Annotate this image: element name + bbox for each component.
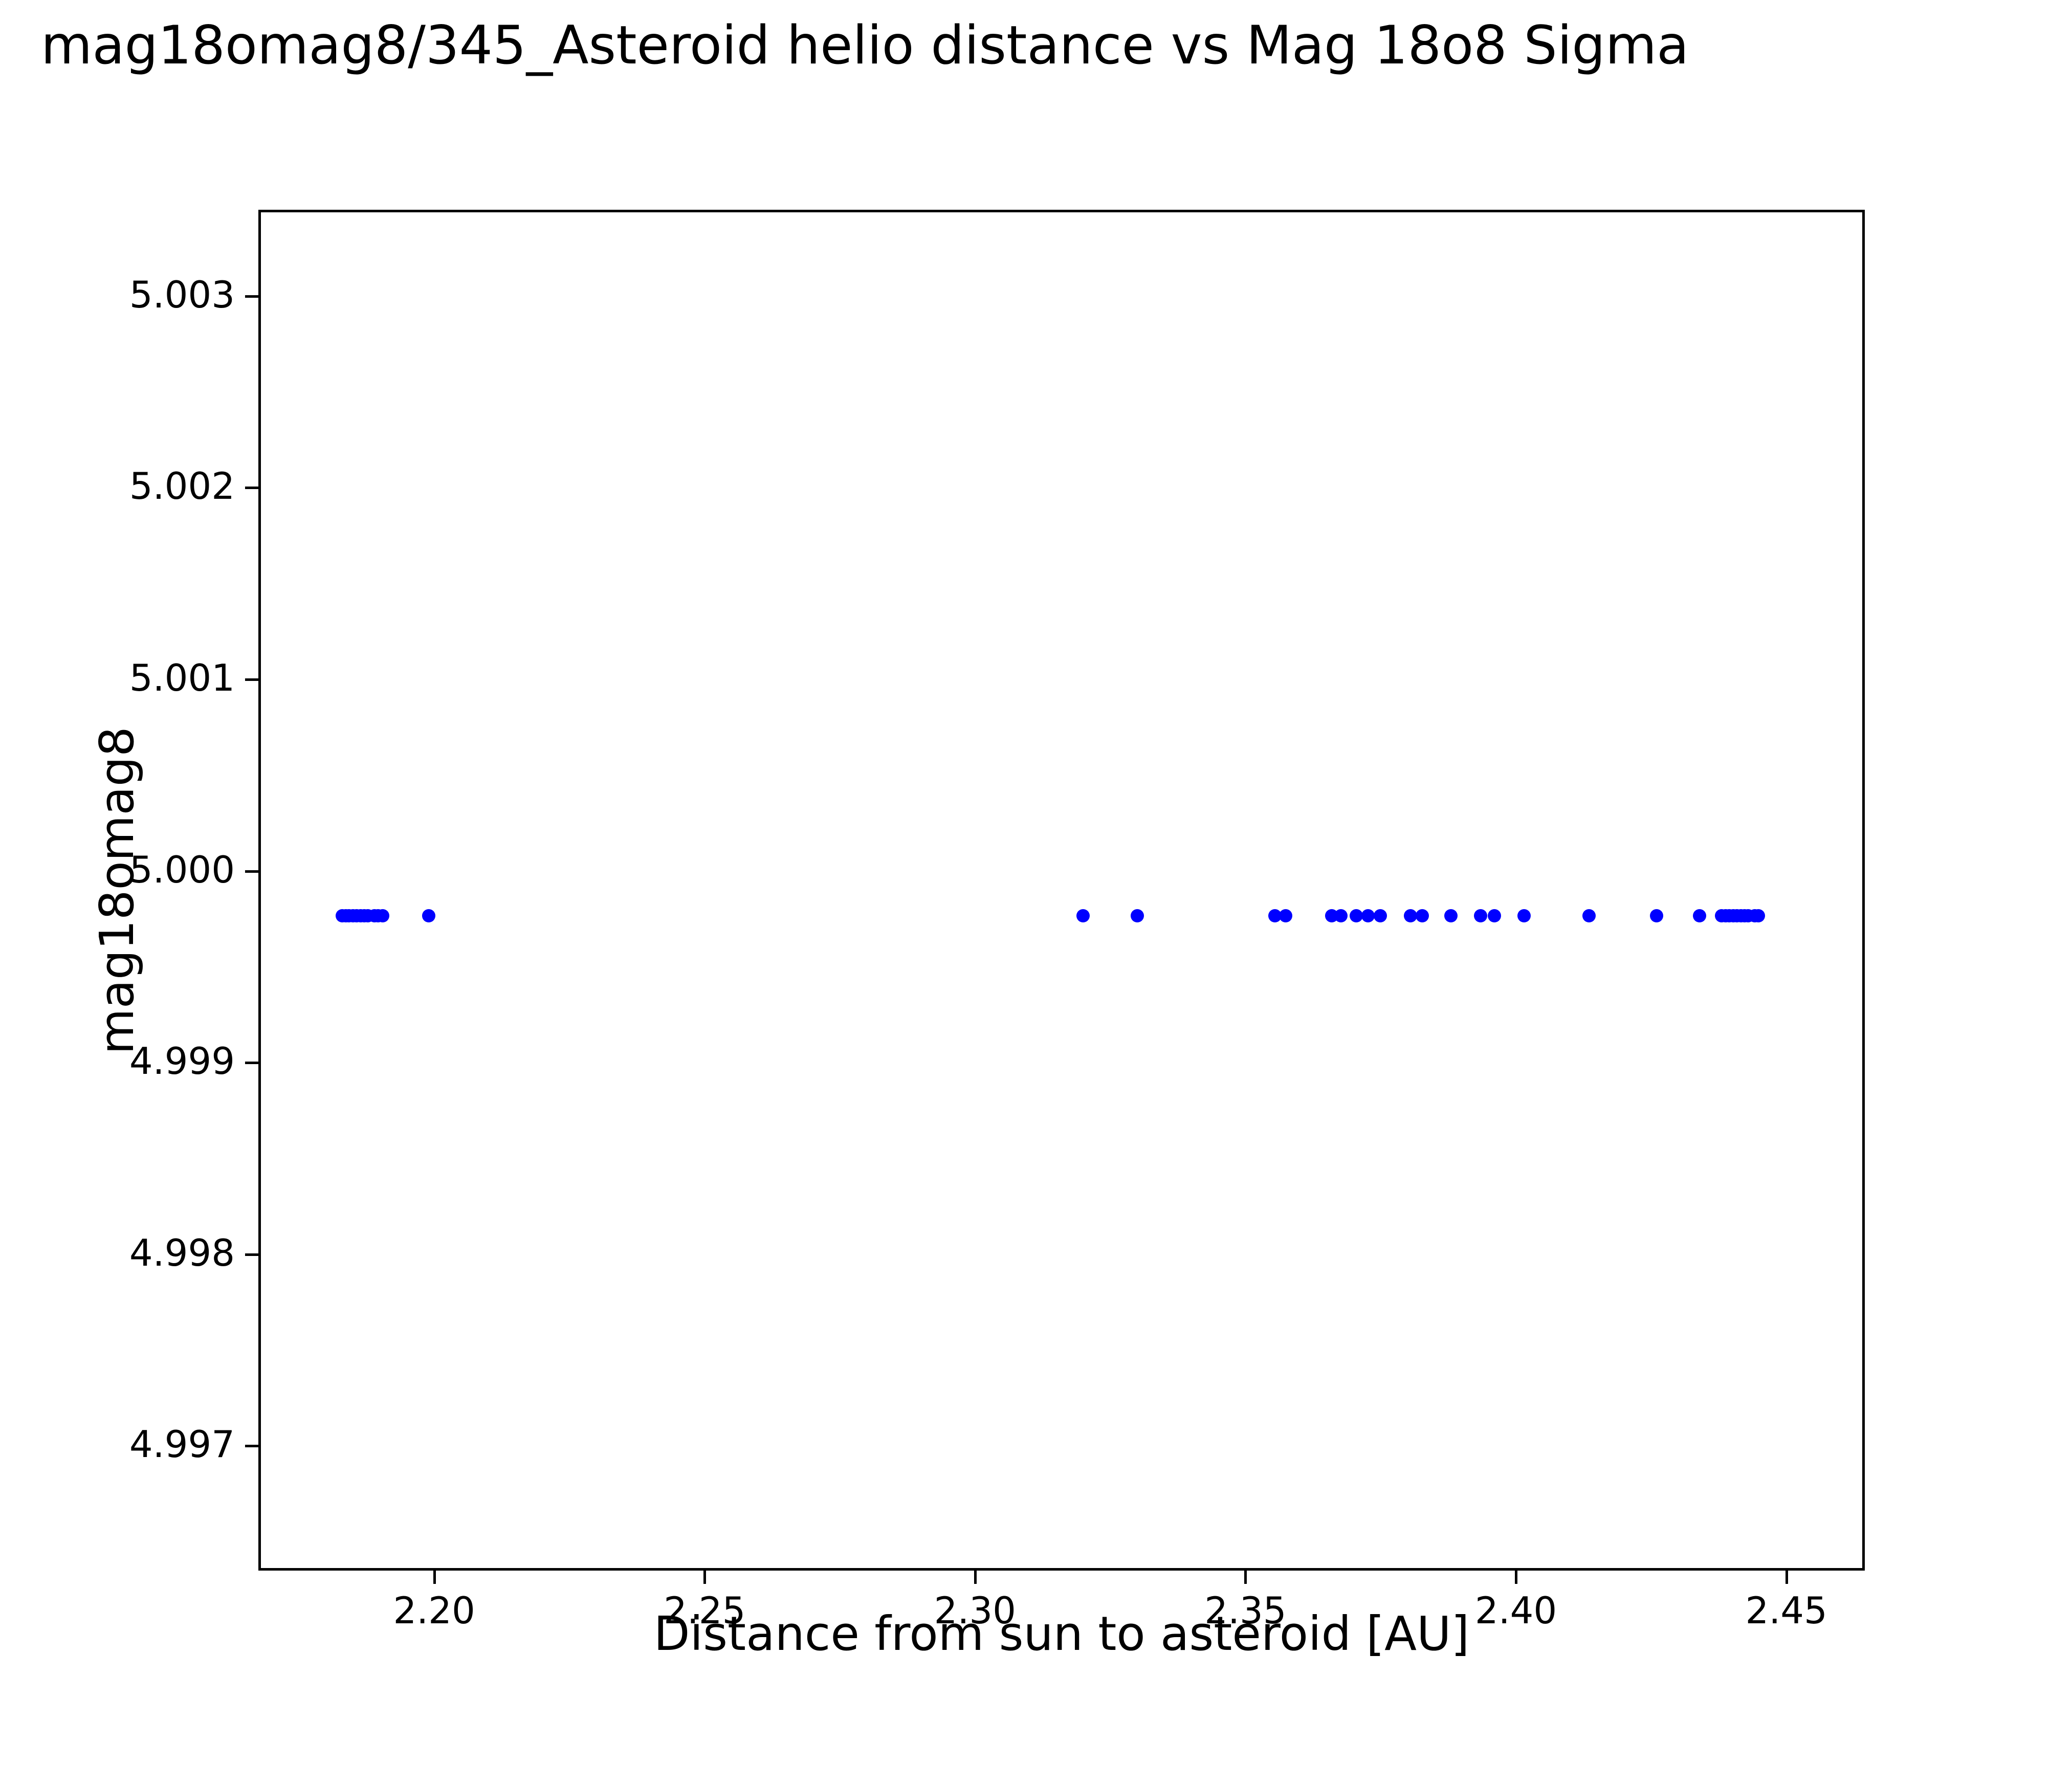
x-tick-mark (433, 1571, 436, 1584)
scatter-point (1582, 909, 1596, 922)
scatter-point (1404, 909, 1417, 922)
scatter-point (1488, 909, 1501, 922)
scatter-point (1350, 909, 1363, 922)
scatter-point (1517, 909, 1531, 922)
y-tick-mark (245, 1062, 258, 1064)
scatter-point (1474, 909, 1487, 922)
y-tick-label: 4.998 (20, 1231, 235, 1274)
scatter-point (1444, 909, 1458, 922)
scatter-point (1416, 909, 1429, 922)
y-tick-label: 5.001 (20, 656, 235, 699)
x-tick-mark (1244, 1571, 1247, 1584)
scatter-point (1131, 909, 1144, 922)
y-tick-label: 5.003 (20, 273, 235, 316)
scatter-point (1374, 909, 1387, 922)
scatter-point (1334, 909, 1348, 922)
scatter-point (1693, 909, 1706, 922)
y-tick-label: 4.997 (20, 1423, 235, 1466)
x-tick-mark (1515, 1571, 1517, 1584)
scatter-point (1650, 909, 1663, 922)
y-tick-mark (245, 487, 258, 489)
scatter-point (1752, 909, 1765, 922)
y-tick-mark (245, 1445, 258, 1447)
scatter-point (1361, 909, 1375, 922)
y-tick-mark (245, 678, 258, 681)
x-axis-label: Distance from sun to asteroid [AU] (258, 1606, 1865, 1661)
y-axis-label: mag18omag8 (90, 726, 144, 1054)
chart-title: mag18omag8/345_Asteroid helio distance v… (41, 19, 2052, 72)
x-tick-mark (1786, 1571, 1788, 1584)
y-tick-mark (245, 1253, 258, 1256)
x-tick-mark (703, 1571, 706, 1584)
scatter-point (376, 909, 389, 922)
x-tick-mark (974, 1571, 977, 1584)
scatter-point (1279, 909, 1292, 922)
y-tick-mark (245, 870, 258, 873)
scatter-point (1076, 909, 1090, 922)
scatter-points-layer (261, 212, 1862, 1568)
y-tick-mark (245, 295, 258, 298)
y-tick-label: 5.002 (20, 465, 235, 508)
plot-area (258, 210, 1865, 1571)
figure-canvas: mag18omag8/345_Asteroid helio distance v… (0, 0, 2072, 1765)
scatter-point (422, 909, 435, 922)
